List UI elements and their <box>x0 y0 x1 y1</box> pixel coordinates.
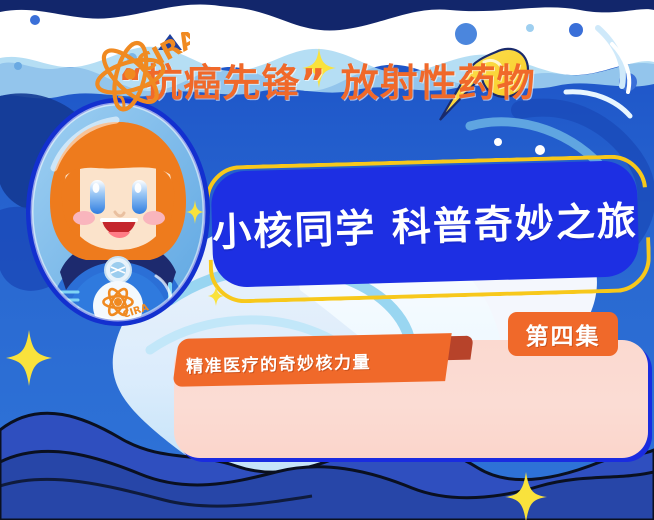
episode-badge[interactable]: 第四集 <box>508 312 618 356</box>
bubble-dot <box>494 138 502 146</box>
bubble-dot <box>535 145 545 155</box>
eye-highlight <box>135 183 142 193</box>
series-title-banner: 小核同学 科普奇妙之旅 <box>210 160 639 288</box>
cira-brand-logo: CIRA <box>86 32 190 116</box>
eye-highlight <box>93 183 100 193</box>
episode-badge-text: 第四集 <box>526 317 601 351</box>
sparkle-icon <box>186 200 204 224</box>
bubble-dot <box>30 15 40 25</box>
cheek-right <box>143 211 165 225</box>
cheek-left <box>73 211 95 225</box>
sparkle-icon <box>208 286 224 306</box>
series-title-text: 小核同学 科普奇妙之旅 <box>210 160 639 288</box>
sub-ribbon-text: 精准医疗的奇妙核力量 <box>186 348 372 378</box>
bubble-dot <box>526 24 534 32</box>
sparkle-icon <box>505 472 547 520</box>
poster-canvas: CIRA <box>0 0 654 520</box>
sparkle-icon <box>6 330 52 386</box>
bubble-dot <box>569 23 583 37</box>
atom-icon: CIRA <box>86 32 190 116</box>
bubble-dot <box>455 23 477 45</box>
chest-badge-nucleus <box>114 298 122 306</box>
